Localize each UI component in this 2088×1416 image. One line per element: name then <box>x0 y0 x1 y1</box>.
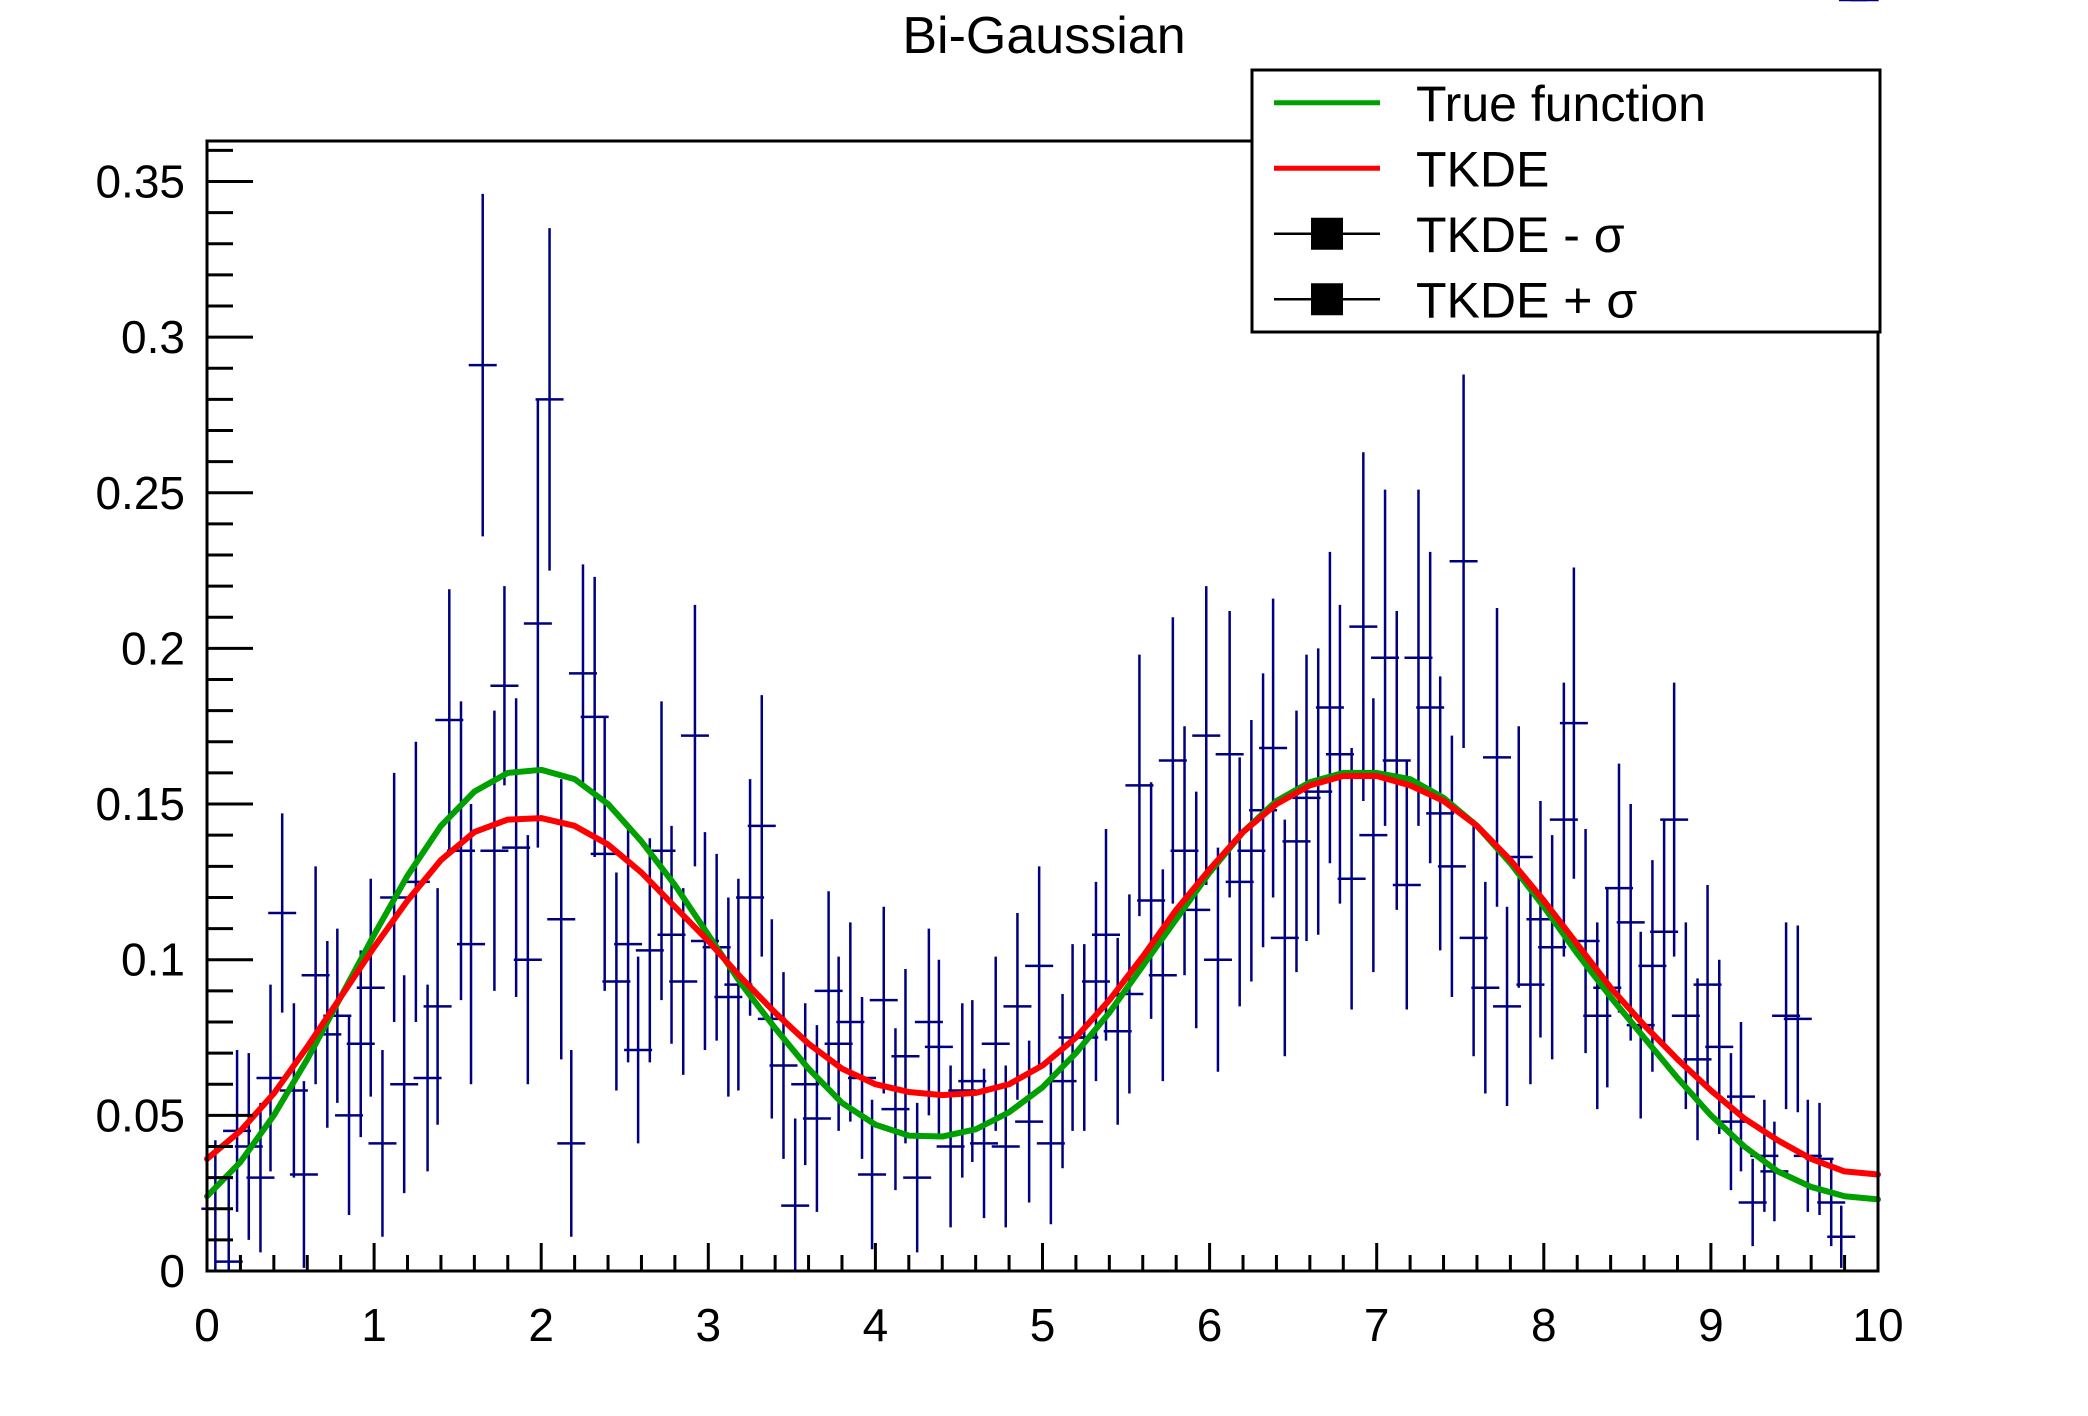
error-bar-point <box>903 1103 931 1252</box>
legend[interactable]: True functionTKDETKDE - σTKDE + σ <box>1252 70 1880 332</box>
legend-label: TKDE - σ <box>1416 207 1625 263</box>
error-bar-point <box>1271 820 1299 1057</box>
error-bar-point <box>469 194 497 536</box>
error-bar-point <box>536 228 564 570</box>
error-bar-point <box>215 1174 243 1271</box>
x-axis-tick-labels: 012345678910 <box>194 1299 1903 1351</box>
legend-label: TKDE + σ <box>1416 272 1637 328</box>
tkde-path <box>207 776 1878 1174</box>
x-tick-label: 10 <box>1852 1299 1903 1351</box>
error-bar-point <box>557 1050 585 1237</box>
error-bar-point <box>1493 907 1521 1106</box>
error-bar-point <box>1171 726 1199 975</box>
y-tick-label: 0.05 <box>95 1089 185 1141</box>
error-bar-point <box>1471 882 1499 1094</box>
error-bar-point <box>1338 748 1366 1009</box>
y-tick-label: 0.25 <box>95 467 185 519</box>
x-tick-label: 4 <box>863 1299 889 1351</box>
y-tick-label: 0 <box>159 1245 185 1297</box>
legend-square-marker-icon <box>1311 218 1343 250</box>
error-bar-point <box>514 835 542 1084</box>
error-bar-point <box>1404 490 1432 826</box>
error-bar-point <box>502 698 530 997</box>
error-bar-point <box>569 564 597 782</box>
error-bar-point <box>1672 922 1700 1109</box>
error-bar-point <box>1605 764 1633 1013</box>
true-function-curve <box>207 770 1878 1200</box>
x-tick-label: 7 <box>1364 1299 1390 1351</box>
x-tick-label: 9 <box>1698 1299 1724 1351</box>
error-bar-point <box>335 1016 363 1215</box>
error-bar-point <box>602 873 630 1091</box>
y-tick-label: 0.3 <box>121 311 185 363</box>
x-tick-label: 5 <box>1030 1299 1056 1351</box>
error-bar-point <box>836 922 864 1121</box>
error-bar-point <box>1237 720 1265 981</box>
error-bar-point <box>1025 866 1053 1065</box>
true-function-path <box>207 770 1878 1200</box>
y-axis-ticks <box>207 150 253 1271</box>
error-bar-point <box>748 695 776 956</box>
error-bar-point <box>268 813 296 1012</box>
y-tick-label: 0.1 <box>121 934 185 986</box>
error-bar-point <box>1104 938 1132 1125</box>
legend-square-marker-icon <box>1311 283 1343 315</box>
y-tick-label: 0.35 <box>95 155 185 207</box>
plot-area: 012345678910 00.050.10.150.20.250.30.35 … <box>0 0 2088 1416</box>
legend-label: True function <box>1416 76 1706 132</box>
x-tick-label: 1 <box>361 1299 387 1351</box>
y-tick-label: 0.15 <box>95 778 185 830</box>
error-bar-point <box>681 605 709 866</box>
x-tick-label: 3 <box>696 1299 722 1351</box>
error-bar-point <box>1538 835 1566 1059</box>
tkde-curve <box>207 776 1878 1174</box>
x-axis-ticks <box>207 1243 1878 1271</box>
error-bar-point <box>870 907 898 1094</box>
error-bar-point <box>1784 925 1812 1112</box>
y-axis-tick-labels: 00.050.10.150.20.250.30.35 <box>95 155 185 1297</box>
x-tick-label: 8 <box>1531 1299 1557 1351</box>
error-bar-point <box>1304 648 1332 934</box>
error-bar-point <box>1125 655 1153 916</box>
error-bar-point <box>1772 922 1800 1109</box>
error-bar-point <box>1137 782 1165 1019</box>
error-bar-point <box>769 972 797 1159</box>
y-tick-label: 0.2 <box>121 622 185 674</box>
x-tick-label: 2 <box>528 1299 554 1351</box>
error-bar-point <box>368 1050 396 1237</box>
error-bar-point <box>1438 736 1466 997</box>
error-bar-point <box>1450 374 1478 748</box>
error-bar-point <box>1460 820 1488 1057</box>
legend-label: TKDE <box>1416 141 1549 197</box>
x-tick-label: 6 <box>1197 1299 1223 1351</box>
x-tick-label: 0 <box>194 1299 220 1351</box>
root-canvas: Bi-Gaussian 012345678910 00.050.10.150.2… <box>0 0 2088 1416</box>
error-bar-point <box>524 399 552 847</box>
error-bar-point <box>1159 617 1187 903</box>
